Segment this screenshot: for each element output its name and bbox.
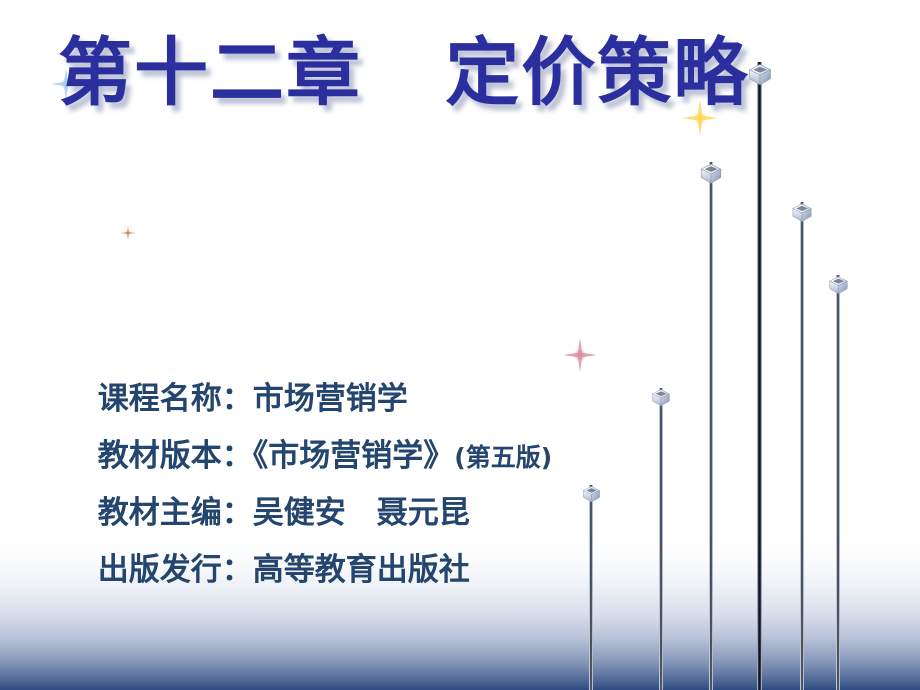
chief-editor-value: 吴健安 聂元昆 xyxy=(253,495,470,531)
pole-2-head-icon xyxy=(697,160,725,188)
publisher-value: 高等教育出版社 xyxy=(253,552,470,588)
body-line-course-name: 课程名称：市场营销学 xyxy=(33,314,552,371)
pole-6-head-icon xyxy=(580,483,603,506)
pole-6-shaft xyxy=(589,485,593,690)
pole-4-head-icon xyxy=(826,273,851,298)
pole-2-shaft-fill xyxy=(709,162,713,690)
publisher-label: 出版发行： xyxy=(98,552,253,588)
pole-5-shaft-fill xyxy=(659,388,663,690)
slide-title: 第十二章 定价策略 xyxy=(58,36,749,110)
presentation-slide: 第十二章 定价策略 课程名称：市场营销学 教材版本：《市场营销学》(第五版) 教… xyxy=(0,0,920,690)
textbook-edition-label: 教材版本： xyxy=(98,438,253,474)
pole-4-shaft-fill xyxy=(836,275,840,690)
pole-3-shaft-fill xyxy=(800,202,804,690)
textbook-edition-value: 《市场营销学》 xyxy=(253,438,455,474)
textbook-edition-suffix: (第五版) xyxy=(454,443,552,472)
slide-body-text: 课程名称：市场营销学 教材版本：《市场营销学》(第五版) 教材主编：吴健安 聂元… xyxy=(33,314,552,542)
chief-editor-label: 教材主编： xyxy=(98,495,253,531)
pole-5-head-icon xyxy=(649,386,673,410)
pole-3-head-icon xyxy=(789,200,815,226)
pole-1-shaft-fill xyxy=(757,62,762,690)
course-name-label: 课程名称： xyxy=(98,381,253,417)
course-name-value: 市场营销学 xyxy=(253,381,408,417)
pole-2-shaft xyxy=(709,162,713,690)
pole-5-shaft xyxy=(659,388,663,690)
pole-4-shaft xyxy=(836,275,840,690)
pole-1-shaft xyxy=(757,62,762,690)
pole-3-shaft xyxy=(800,202,804,690)
pole-6-shaft-fill xyxy=(589,485,593,690)
